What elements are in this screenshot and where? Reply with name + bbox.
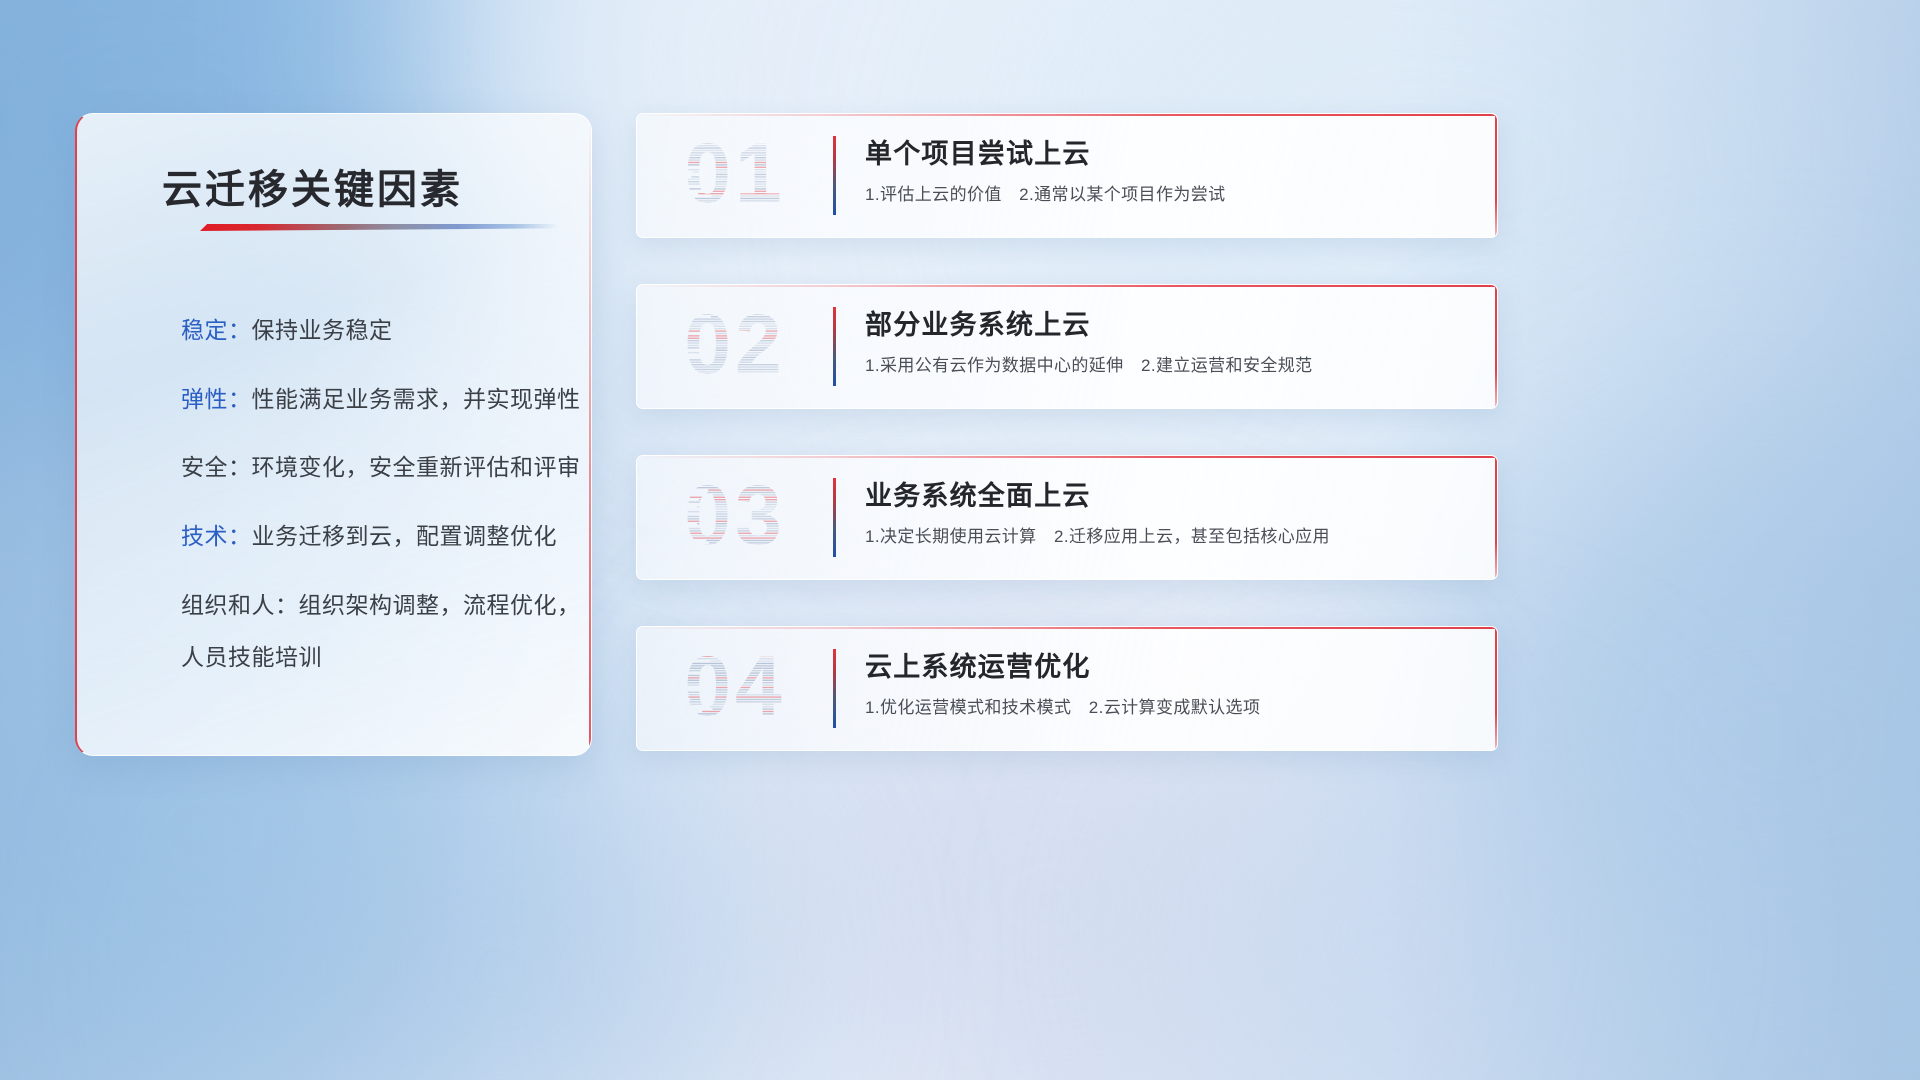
- key-factor-item: 稳定：保持业务稳定: [181, 314, 561, 347]
- key-factor-label: 技术：: [181, 523, 252, 549]
- key-factor-text: 性能满足业务需求，并实现弹性: [252, 386, 581, 412]
- step-body: 部分业务系统上云1.采用公有云作为数据中心的延伸 2.建立运营和安全规范: [865, 309, 1475, 377]
- step-card-01[interactable]: 01单个项目尝试上云1.评估上云的价值 2.通常以某个项目作为尝试: [636, 113, 1498, 238]
- key-factor-item: 组织和人：组织架构调整，流程优化，: [181, 589, 561, 622]
- step-card-02[interactable]: 02部分业务系统上云1.采用公有云作为数据中心的延伸 2.建立运营和安全规范: [636, 284, 1498, 409]
- step-divider: [833, 478, 836, 557]
- key-factor-text: 保持业务稳定: [252, 317, 393, 343]
- step-subtitle: 1.评估上云的价值 2.通常以某个项目作为尝试: [865, 184, 1475, 206]
- key-factor-item: 弹性：性能满足业务需求，并实现弹性: [181, 383, 561, 416]
- step-subtitle: 1.优化运营模式和技术模式 2.云计算变成默认选项: [865, 697, 1475, 719]
- step-subtitle: 1.采用公有云作为数据中心的延伸 2.建立运营和安全规范: [865, 355, 1475, 377]
- step-body: 云上系统运营优化1.优化运营模式和技术模式 2.云计算变成默认选项: [865, 651, 1475, 719]
- step-number-glyph: 02: [661, 304, 809, 390]
- title-underline: [200, 224, 558, 231]
- step-divider: [833, 136, 836, 215]
- key-factors-list: 稳定：保持业务稳定弹性：性能满足业务需求，并实现弹性安全：环境变化，安全重新评估…: [181, 314, 561, 674]
- step-divider: [833, 307, 836, 386]
- step-title: 单个项目尝试上云: [865, 138, 1475, 172]
- step-number-glyph: 03: [661, 475, 809, 561]
- key-factor-label: 弹性：: [181, 386, 252, 412]
- step-title: 云上系统运营优化: [865, 651, 1475, 685]
- key-factor-text: 人员技能培训: [181, 644, 322, 670]
- key-factor-text: 环境变化，安全重新评估和评审: [252, 454, 581, 480]
- step-number-glyph: 04: [661, 646, 809, 732]
- step-subtitle: 1.决定长期使用云计算 2.迁移应用上云，甚至包括核心应用: [865, 526, 1475, 548]
- step-card-03[interactable]: 03业务系统全面上云1.决定长期使用云计算 2.迁移应用上云，甚至包括核心应用: [636, 455, 1498, 580]
- step-body: 单个项目尝试上云1.评估上云的价值 2.通常以某个项目作为尝试: [865, 138, 1475, 206]
- step-divider: [833, 649, 836, 728]
- step-number-glyph: 01: [661, 133, 809, 219]
- key-factor-item: 技术：业务迁移到云，配置调整优化: [181, 520, 561, 553]
- key-factor-item: 人员技能培训: [181, 641, 561, 674]
- step-body: 业务系统全面上云1.决定长期使用云计算 2.迁移应用上云，甚至包括核心应用: [865, 480, 1475, 548]
- step-title: 部分业务系统上云: [865, 309, 1475, 343]
- step-title: 业务系统全面上云: [865, 480, 1475, 514]
- key-factor-item: 安全：环境变化，安全重新评估和评审: [181, 451, 561, 484]
- page-title: 云迁移关键因素: [162, 157, 463, 215]
- key-factor-text: 业务迁移到云，配置调整优化: [252, 523, 558, 549]
- key-factors-card: 云迁移关键因素 稳定：保持业务稳定弹性：性能满足业务需求，并实现弹性安全：环境变…: [75, 113, 592, 756]
- key-factor-label: 稳定：: [181, 317, 252, 343]
- key-factor-label: 安全：: [181, 454, 252, 480]
- key-factor-label: 组织和人：: [181, 592, 299, 618]
- key-factor-text: 组织架构调整，流程优化，: [299, 592, 581, 618]
- slide-stage: 云迁移关键因素 稳定：保持业务稳定弹性：性能满足业务需求，并实现弹性安全：环境变…: [0, 0, 1920, 1080]
- step-card-04[interactable]: 04云上系统运营优化1.优化运营模式和技术模式 2.云计算变成默认选项: [636, 626, 1498, 751]
